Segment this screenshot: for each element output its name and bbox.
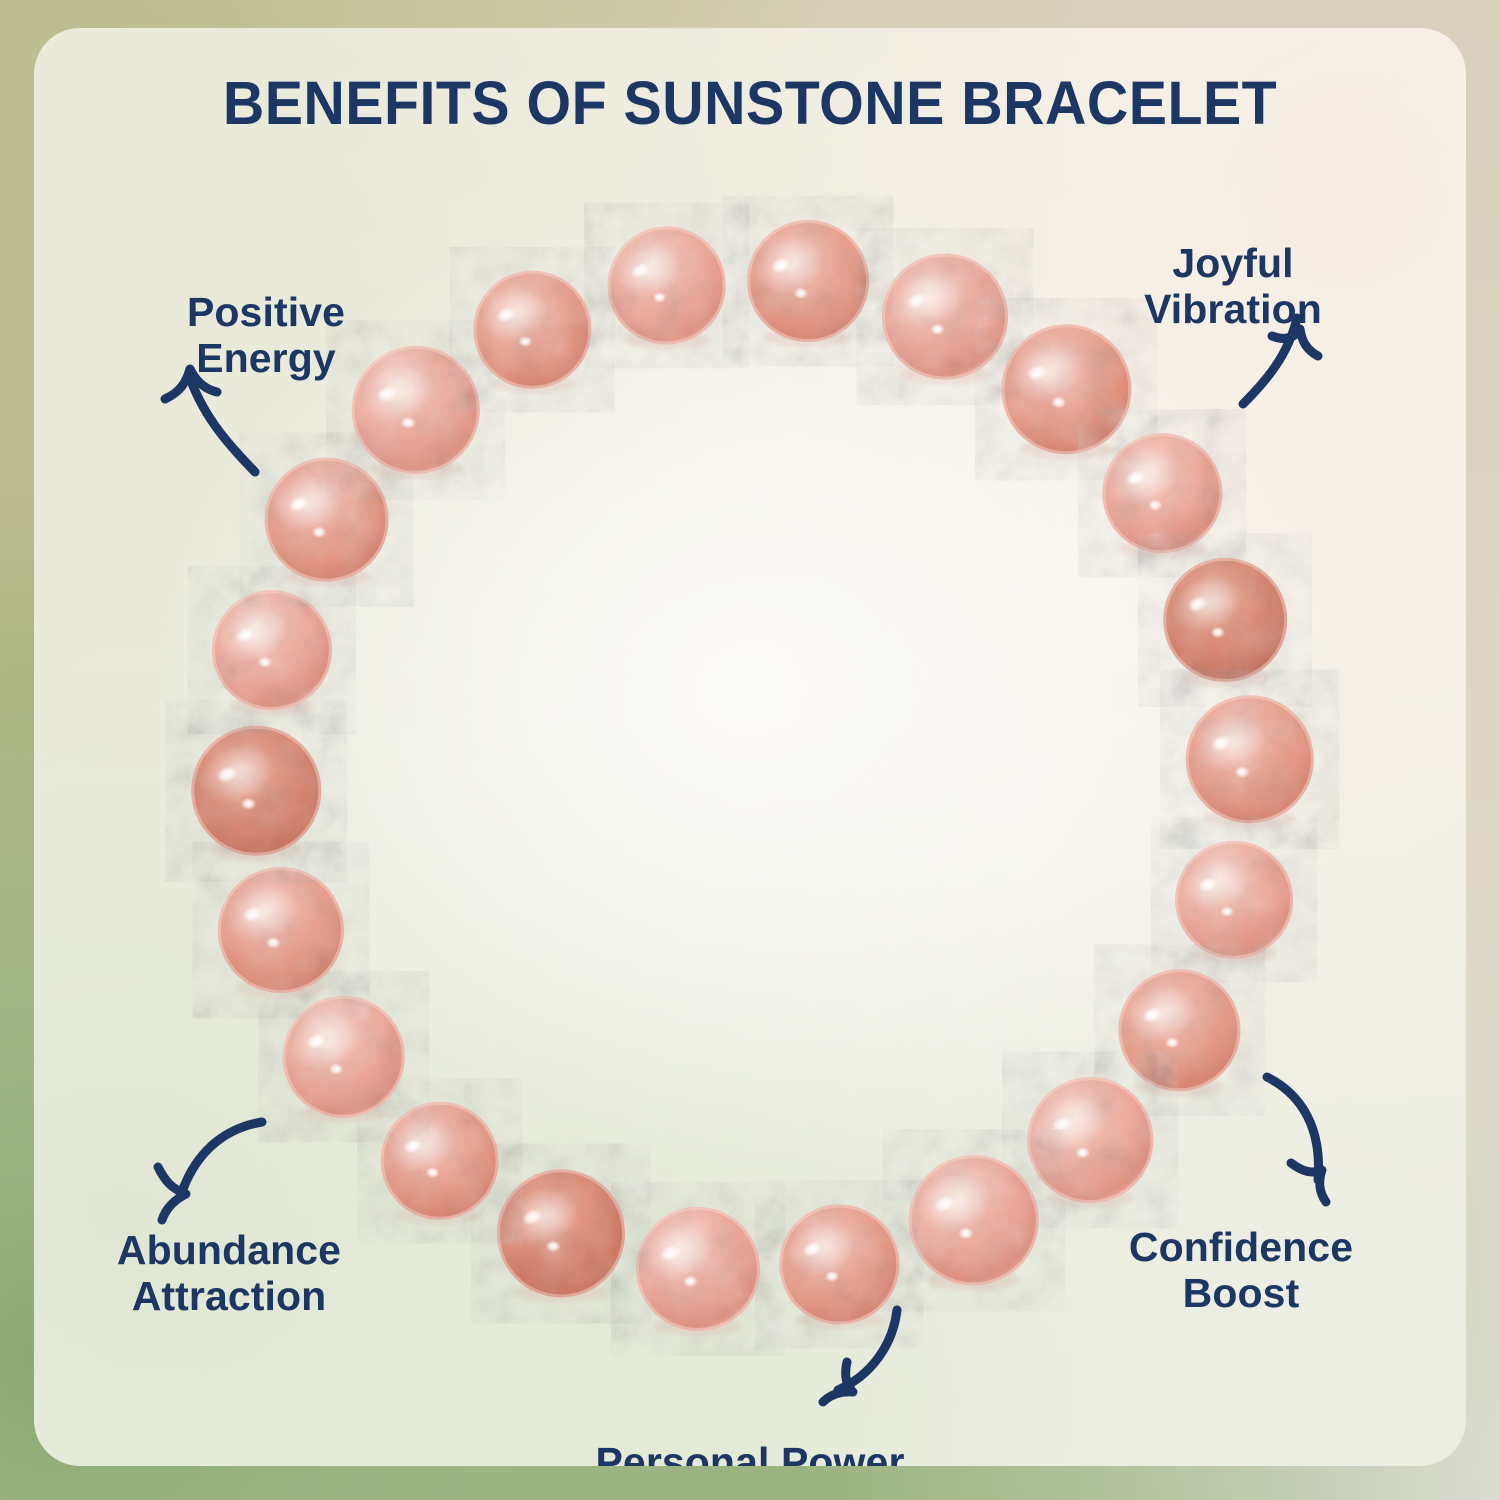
arrow-abundance-attraction — [158, 1122, 262, 1220]
poster-card: BENEFITS OF SUNSTONE BRACELET Positive E… — [34, 28, 1466, 1466]
page-title: BENEFITS OF SUNSTONE BRACELET — [77, 72, 1423, 134]
arrow-confidence-boost — [1267, 1077, 1326, 1202]
arrow-personal-power — [823, 1310, 897, 1402]
label-positive-energy: Positive Energy — [116, 290, 416, 382]
label-joyful-vibration: Joyful Vibration — [1068, 241, 1398, 333]
label-personal-power: Personal Power — [34, 1440, 1466, 1466]
label-abundance-attraction: Abundance Attraction — [64, 1228, 394, 1320]
poster-canvas: BENEFITS OF SUNSTONE BRACELET Positive E… — [0, 0, 1500, 1500]
label-confidence-boost: Confidence Boost — [1076, 1225, 1406, 1317]
arrow-positive-energy — [165, 369, 255, 472]
